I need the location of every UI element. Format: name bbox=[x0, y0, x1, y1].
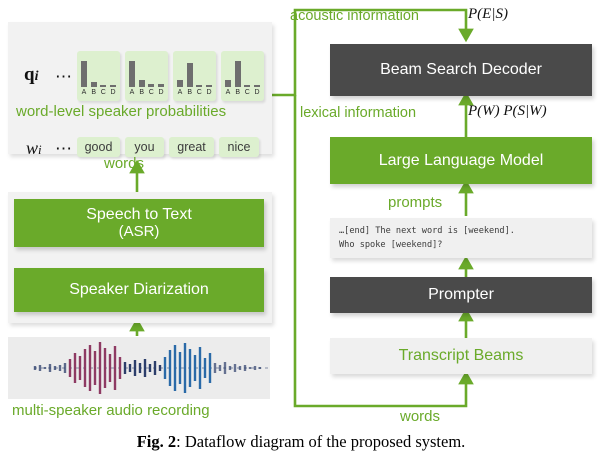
word-level-probabilities-panel: qi ⋯ A B C D bbox=[8, 22, 272, 154]
transcript-beams-label: Transcript Beams bbox=[399, 347, 524, 365]
speaker-histogram-card: A B C D bbox=[173, 51, 216, 101]
histogram-tick-labels: A B C D bbox=[225, 88, 260, 98]
audio-caption: multi-speaker audio recording bbox=[12, 402, 210, 419]
lexical-probability-label: P(W) P(S|W) bbox=[468, 103, 547, 120]
large-language-model-label: Large Language Model bbox=[379, 152, 544, 170]
words-edge-label: words bbox=[400, 408, 440, 425]
speaker-histogram-card: A B C D bbox=[221, 51, 264, 101]
q-symbol: qi bbox=[24, 64, 38, 86]
beam-search-decoder-box[interactable]: Beam Search Decoder bbox=[330, 44, 592, 96]
audio-waveform-panel bbox=[8, 337, 270, 399]
histogram-bars bbox=[81, 54, 116, 87]
words-caption: words bbox=[104, 155, 144, 172]
speech-to-text-label-line1: Speech to Text bbox=[86, 206, 192, 224]
histogram-tick-labels: A B C D bbox=[177, 88, 212, 98]
speaker-diarization-label: Speaker Diarization bbox=[69, 281, 209, 299]
probabilities-caption: word-level speaker probabilities bbox=[16, 103, 226, 120]
w-ellipsis: ⋯ bbox=[55, 139, 74, 159]
waveform-icon bbox=[8, 337, 270, 399]
word-chip: good bbox=[77, 137, 120, 157]
figure-number: Fig. 2 bbox=[137, 432, 176, 451]
q-ellipsis: ⋯ bbox=[55, 67, 74, 87]
histogram-bars bbox=[225, 54, 260, 87]
acoustic-information-label: acoustic information bbox=[290, 8, 419, 24]
prompter-label: Prompter bbox=[428, 286, 494, 304]
speaker-histogram-card: A B C D bbox=[125, 51, 168, 101]
word-chip: great bbox=[169, 137, 214, 157]
speaker-histogram-card: A B C D bbox=[77, 51, 120, 101]
lexical-information-label: lexical information bbox=[300, 105, 416, 121]
prompter-box[interactable]: Prompter bbox=[330, 277, 592, 313]
speaker-diarization-box[interactable]: Speaker Diarization bbox=[14, 268, 264, 312]
w-symbol: wi bbox=[26, 138, 42, 159]
speech-to-text-box[interactable]: Speech to Text (ASR) bbox=[14, 199, 264, 247]
word-chip: nice bbox=[219, 137, 259, 157]
acoustic-probability-label: P(E|S) bbox=[468, 6, 508, 23]
histogram-bars bbox=[177, 54, 212, 87]
histogram-tick-labels: A B C D bbox=[81, 88, 116, 98]
prompt-text-line2: Who spoke [weekend]? bbox=[339, 239, 442, 251]
prompt-text-box: …[end] The next word is [weekend]. Who s… bbox=[330, 218, 592, 258]
histogram-tick-labels: A B C D bbox=[129, 88, 164, 98]
histogram-bars bbox=[129, 54, 164, 87]
beam-search-decoder-label: Beam Search Decoder bbox=[380, 61, 542, 79]
dataflow-figure: qi ⋯ A B C D bbox=[0, 0, 602, 462]
figure-caption-text: : Dataflow diagram of the proposed syste… bbox=[176, 432, 465, 451]
figure-caption: Fig. 2: Dataflow diagram of the proposed… bbox=[0, 432, 602, 452]
word-chip: you bbox=[125, 137, 164, 157]
prompt-text-line1: …[end] The next word is [weekend]. bbox=[339, 225, 515, 237]
large-language-model-box[interactable]: Large Language Model bbox=[330, 137, 592, 184]
speech-to-text-label-line2: (ASR) bbox=[86, 224, 192, 241]
prompts-label: prompts bbox=[388, 194, 442, 211]
transcript-beams-box[interactable]: Transcript Beams bbox=[330, 338, 592, 374]
